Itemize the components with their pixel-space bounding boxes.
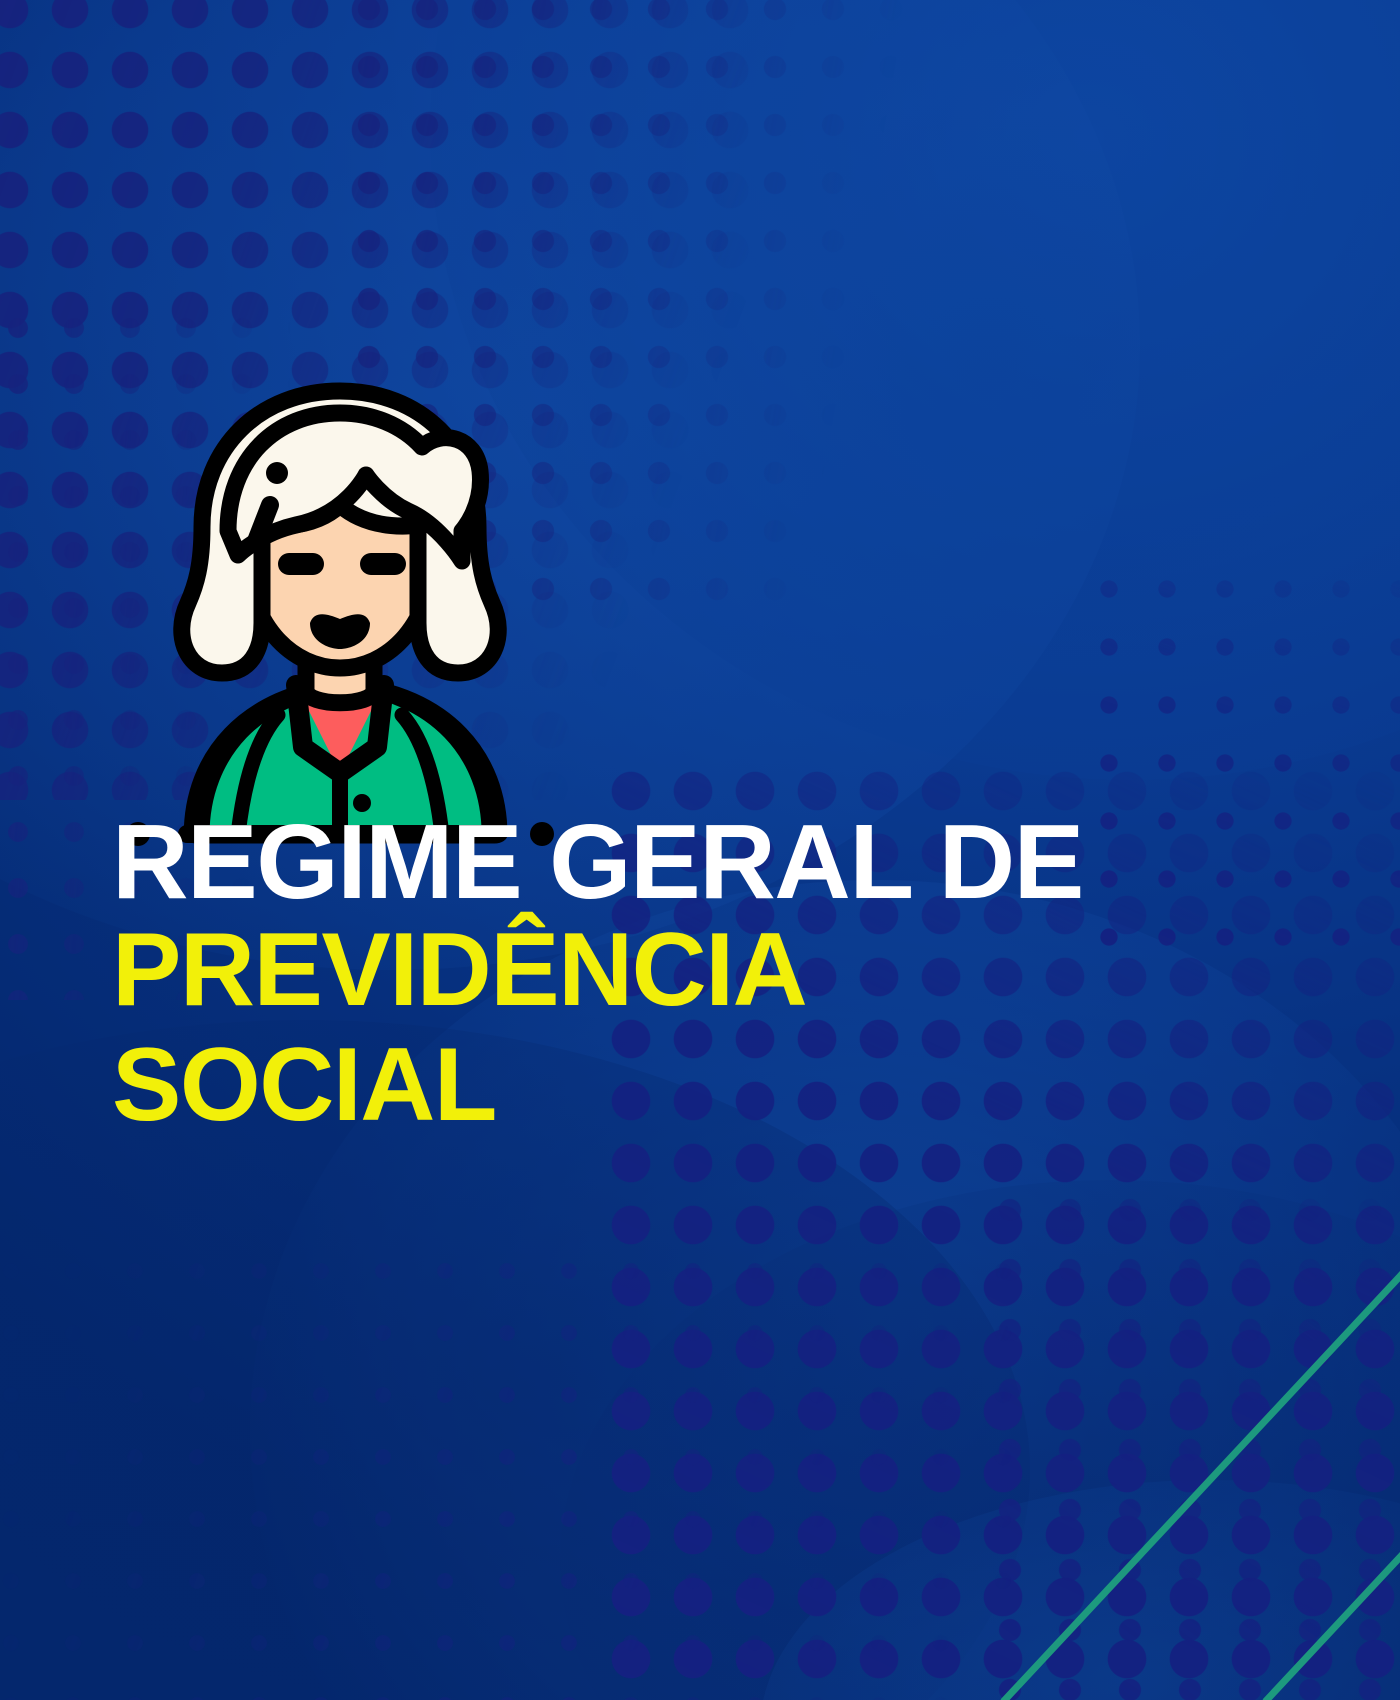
headline-line-1: REGIME GERAL DE — [112, 808, 1272, 917]
headline-line-2: PREVIDÊNCIA — [112, 917, 1272, 1024]
poster-canvas: REGIME GERAL DE PREVIDÊNCIA SOCIAL — [0, 0, 1400, 1700]
hair-shine-dot — [266, 462, 288, 484]
headline-line-3: SOCIAL — [112, 1032, 1272, 1139]
eye-right — [360, 553, 406, 575]
elderly-person-icon — [110, 355, 570, 855]
headline-block: REGIME GERAL DE PREVIDÊNCIA SOCIAL — [112, 808, 1272, 1139]
eye-left — [278, 553, 324, 575]
